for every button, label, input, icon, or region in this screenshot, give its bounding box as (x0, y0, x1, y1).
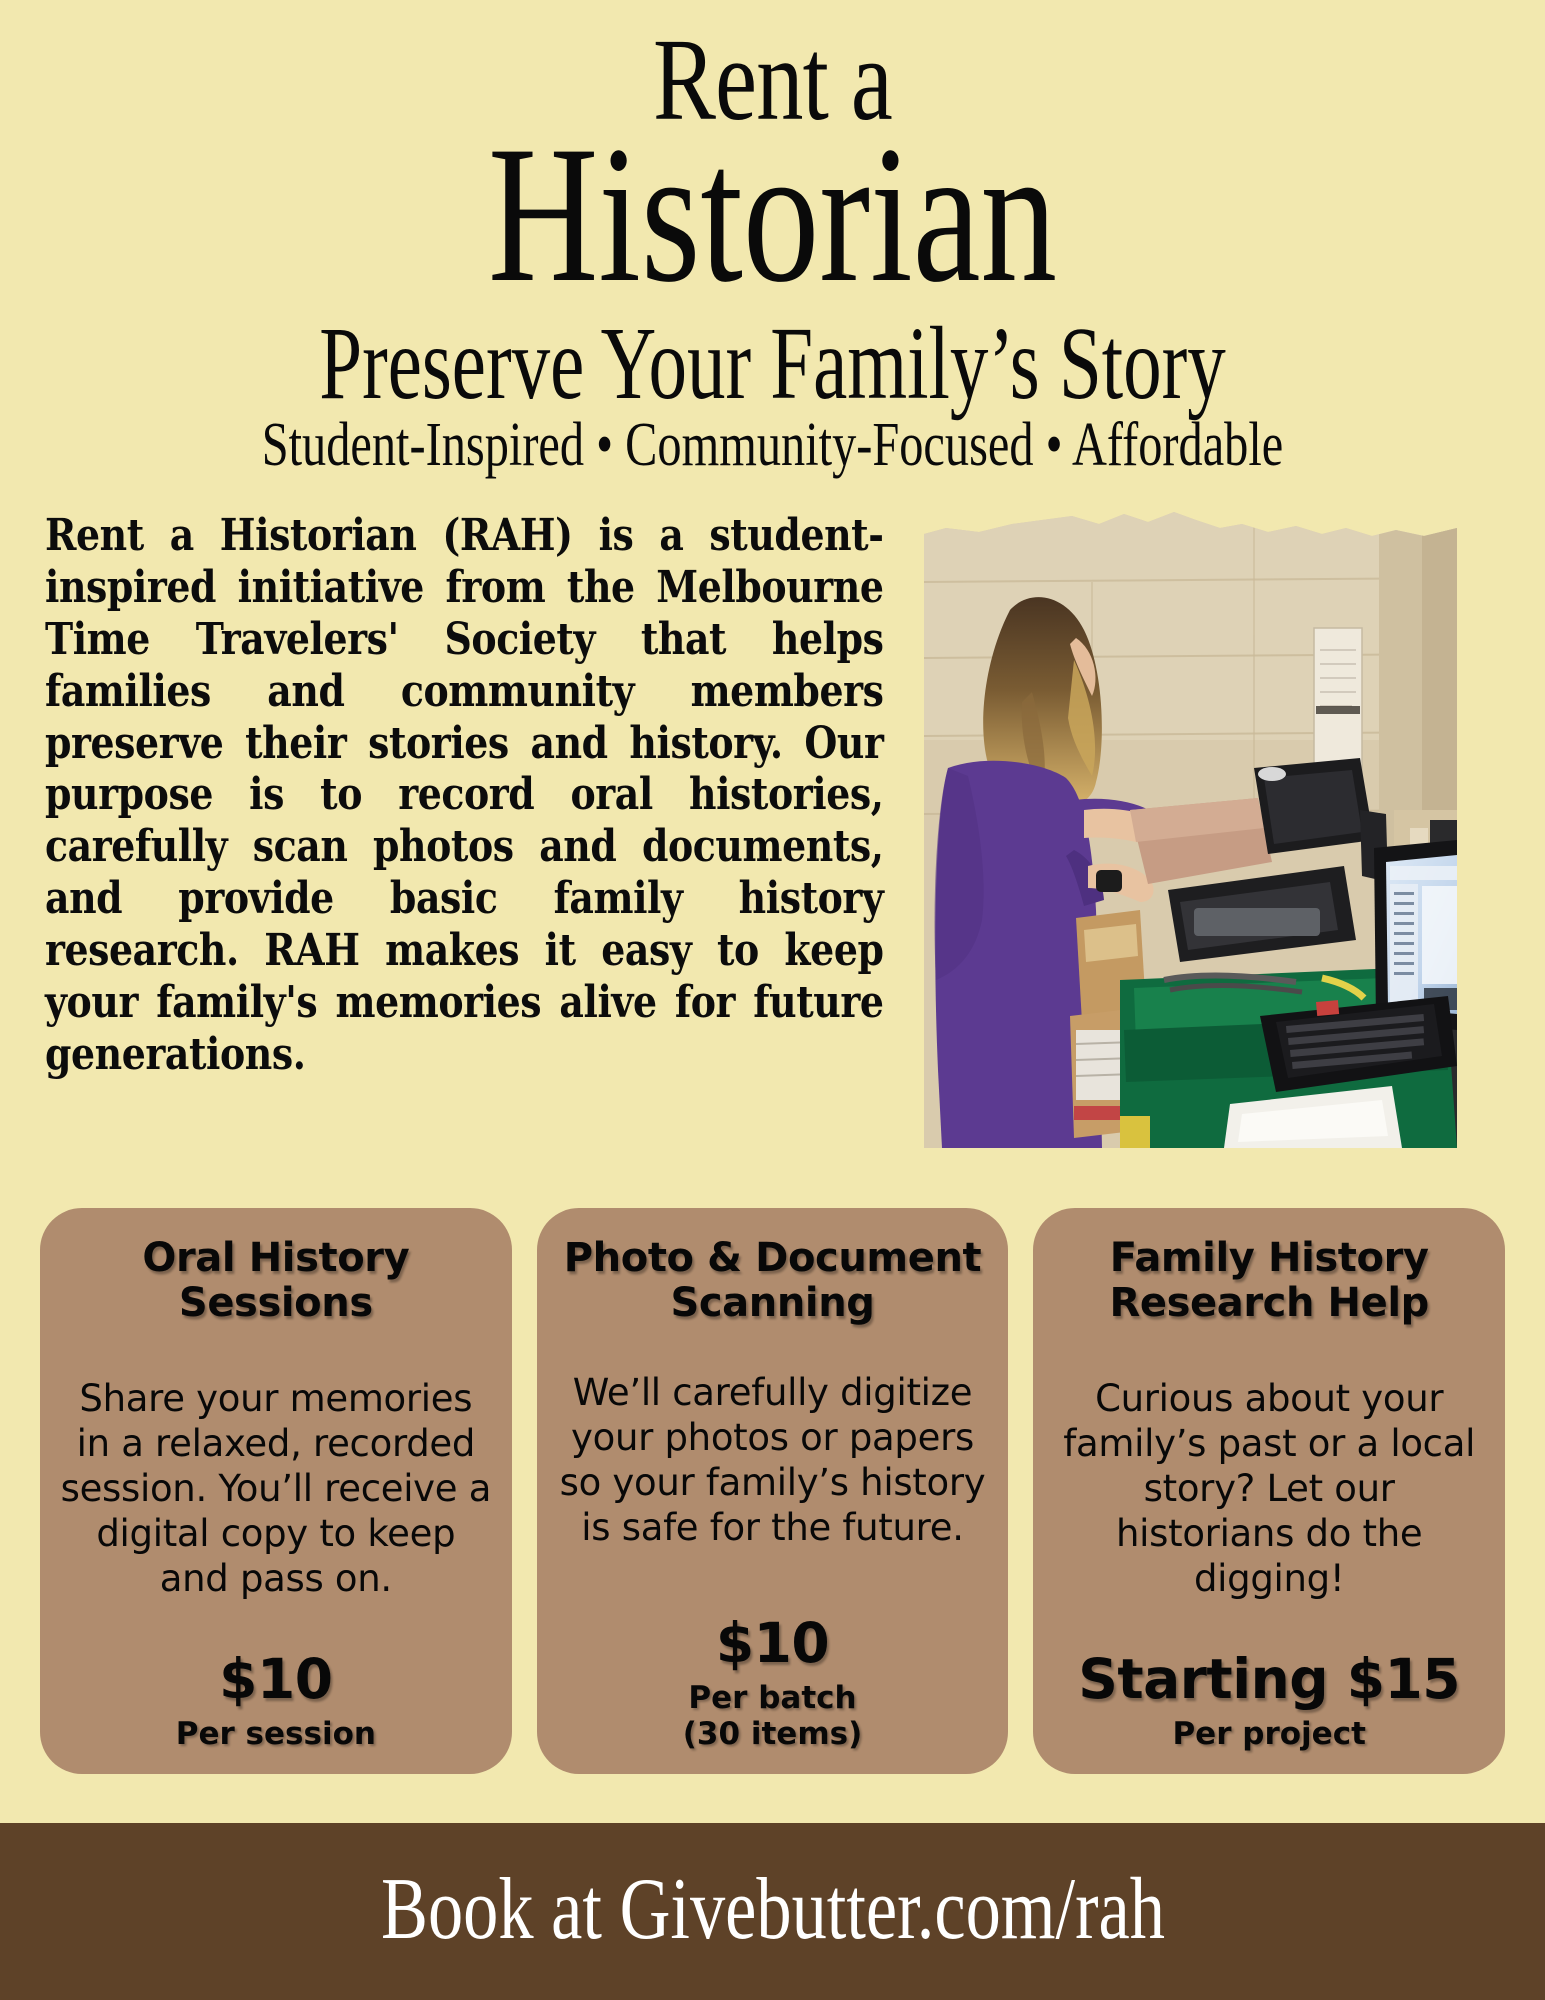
footer-bar: Book at Givebutter.com/rah (0, 1823, 1545, 2000)
card-title-line-2: Research Help (1109, 1280, 1428, 1326)
card-description: Curious about your family’s past or a lo… (1051, 1377, 1487, 1601)
poster-tagline: Student-Inspired • Community-Focused • A… (170, 414, 1375, 476)
card-price-unit: Per project (1172, 1717, 1365, 1752)
card-price: Starting $15 (1078, 1651, 1460, 1709)
card-title: Oral History Sessions (142, 1236, 409, 1326)
intro-paragraph: Rent a Historian (RAH) is a student-insp… (45, 510, 884, 1081)
service-card-photo-scanning[interactable]: Photo & Document Scanning We’ll carefull… (537, 1208, 1009, 1774)
photo-illustration (924, 510, 1457, 1148)
poster: Rent a Historian Preserve Your Family’s … (0, 0, 1545, 2000)
card-price: $10 (716, 1615, 829, 1673)
card-title: Family History Research Help (1109, 1236, 1428, 1326)
poster-subtitle: Preserve Your Family’s Story (201, 312, 1344, 416)
card-title: Photo & Document Scanning (564, 1236, 982, 1326)
title-line-2: Historian (170, 124, 1375, 306)
intro-section: Rent a Historian (RAH) is a student-insp… (0, 510, 1545, 1148)
card-price-unit: Per session (176, 1717, 376, 1752)
poster-header: Rent a Historian Preserve Your Family’s … (0, 0, 1545, 476)
card-title-line-2: Scanning (670, 1280, 874, 1326)
card-price: $10 (219, 1651, 332, 1709)
card-description: Share your memories in a relaxed, record… (58, 1377, 494, 1601)
card-title-line-1: Oral History (142, 1235, 409, 1281)
service-card-research-help[interactable]: Family History Research Help Curious abo… (1033, 1208, 1505, 1774)
card-description: We’ll carefully digitize your photos or … (555, 1371, 991, 1550)
service-card-oral-history[interactable]: Oral History Sessions Share your memorie… (40, 1208, 512, 1774)
program-photo (924, 510, 1457, 1148)
booking-link[interactable]: Book at Givebutter.com/rah (381, 1859, 1165, 1960)
card-title-line-1: Family History (1110, 1235, 1429, 1281)
card-title-line-1: Photo & Document (564, 1235, 982, 1281)
service-cards: Oral History Sessions Share your memorie… (0, 1208, 1545, 1774)
card-price-unit: Per batch (30 items) (683, 1681, 863, 1752)
card-title-line-2: Sessions (179, 1280, 373, 1326)
